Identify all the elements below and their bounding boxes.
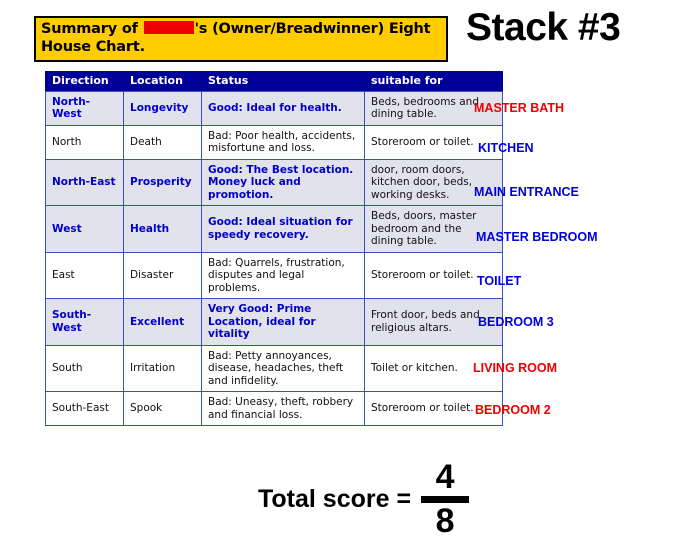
score-denominator: 8 [436, 504, 455, 538]
redacted-name-block [144, 21, 194, 34]
title-text-before: Summary of [41, 21, 138, 37]
room-label-kitchen: KITCHEN [478, 141, 534, 155]
table-header-row: Direction Location Status suitable for [46, 72, 503, 92]
room-label-bedroom-3: BEDROOM 3 [478, 315, 554, 329]
stack-heading: Stack #3 [466, 6, 620, 50]
cell-location: Longevity [124, 91, 202, 125]
room-label-living-room: LIVING ROOM [473, 361, 557, 375]
eight-house-chart-table: Direction Location Status suitable for N… [45, 71, 503, 426]
cell-direction: South-East [46, 392, 124, 426]
cell-direction: East [46, 252, 124, 299]
table-row: North-West Longevity Good: Ideal for hea… [46, 91, 503, 125]
table-row: West Health Good: Ideal situation for sp… [46, 206, 503, 253]
score-numerator: 4 [436, 460, 455, 494]
room-label-column: MASTER BATH KITCHEN MAIN ENTRANCE MASTER… [462, 71, 688, 429]
cell-location: Prosperity [124, 159, 202, 206]
room-label-master-bedroom: MASTER BEDROOM [476, 230, 598, 244]
score-fraction: 4 8 [421, 460, 469, 538]
cell-status: Good: Ideal situation for speedy recover… [202, 206, 365, 253]
cell-direction: North-West [46, 91, 124, 125]
cell-location: Disaster [124, 252, 202, 299]
column-header-status: Status [202, 72, 365, 92]
summary-title-banner: Summary of 's (Owner/Breadwinner) Eight … [34, 16, 448, 62]
cell-direction: North [46, 125, 124, 159]
cell-status: Good: Ideal for health. [202, 91, 365, 125]
table-row: South-East Spook Bad: Uneasy, theft, rob… [46, 392, 503, 426]
cell-location: Spook [124, 392, 202, 426]
room-label-master-bath: MASTER BATH [474, 101, 564, 115]
cell-direction: South [46, 345, 124, 392]
cell-status: Bad: Petty annoyances, disease, headache… [202, 345, 365, 392]
cell-status: Good: The Best location. Money luck and … [202, 159, 365, 206]
column-header-location: Location [124, 72, 202, 92]
table-body: North-West Longevity Good: Ideal for hea… [46, 91, 503, 426]
total-score-block: Total score = 4 8 [258, 460, 469, 538]
cell-status: Bad: Poor health, accidents, misfortune … [202, 125, 365, 159]
cell-status: Bad: Uneasy, theft, robbery and financia… [202, 392, 365, 426]
total-score-label: Total score = [258, 485, 411, 514]
column-header-direction: Direction [46, 72, 124, 92]
room-label-main-entrance: MAIN ENTRANCE [474, 185, 579, 199]
room-label-toilet: TOILET [477, 274, 521, 288]
cell-direction: North-East [46, 159, 124, 206]
cell-location: Health [124, 206, 202, 253]
table-row: South-West Excellent Very Good: Prime Lo… [46, 299, 503, 346]
table-row: East Disaster Bad: Quarrels, frustration… [46, 252, 503, 299]
cell-direction: West [46, 206, 124, 253]
table-row: North Death Bad: Poor health, accidents,… [46, 125, 503, 159]
table-row: North-East Prosperity Good: The Best loc… [46, 159, 503, 206]
cell-location: Irritation [124, 345, 202, 392]
cell-location: Death [124, 125, 202, 159]
cell-location: Excellent [124, 299, 202, 346]
cell-status: Very Good: Prime Location, ideal for vit… [202, 299, 365, 346]
table-row: South Irritation Bad: Petty annoyances, … [46, 345, 503, 392]
cell-direction: South-West [46, 299, 124, 346]
cell-status: Bad: Quarrels, frustration, disputes and… [202, 252, 365, 299]
room-label-bedroom-2: BEDROOM 2 [475, 403, 551, 417]
